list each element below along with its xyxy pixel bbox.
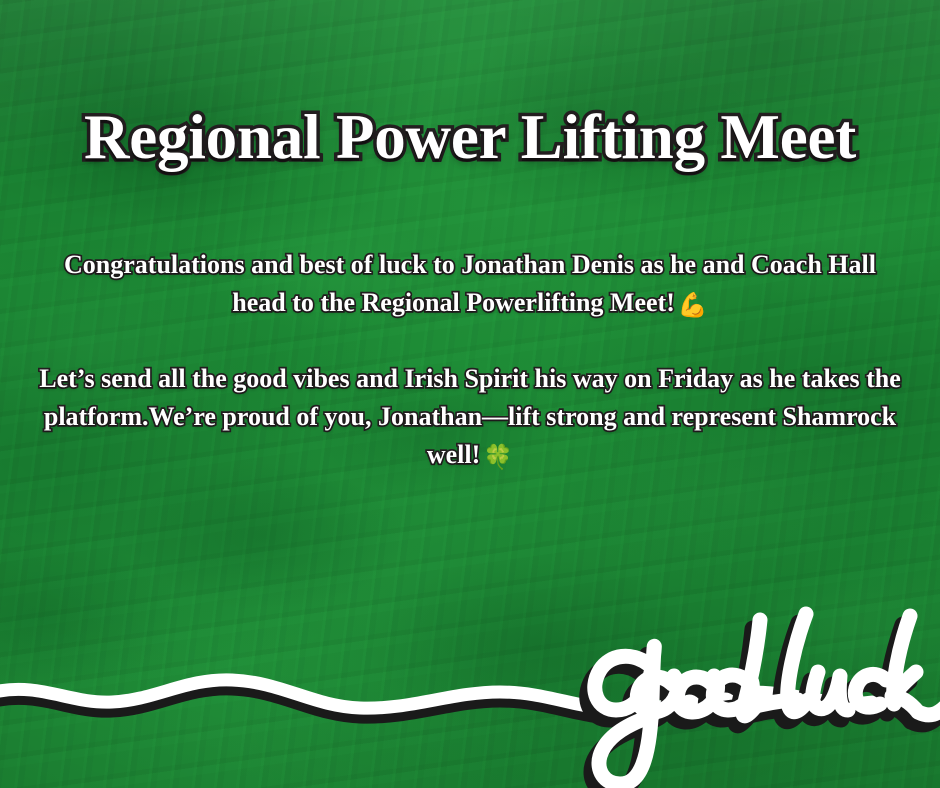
paragraph-1-text: Congratulations and best of luck to Jona… (64, 250, 876, 317)
four-leaf-clover-emoji: 🍀 (483, 445, 513, 471)
page-title: Regional Power Lifting Meet (0, 104, 940, 170)
message-paragraph-2: Let’s send all the good vibes and Irish … (0, 360, 940, 477)
paragraph-2-text: Let’s send all the good vibes and Irish … (39, 364, 900, 469)
flexed-biceps-emoji: 💪 (678, 293, 708, 319)
poster-canvas: Regional Power Lifting Meet Congratulati… (0, 0, 940, 788)
poster-content: Regional Power Lifting Meet Congratulati… (0, 0, 940, 788)
message-paragraph-1: Congratulations and best of luck to Jona… (0, 246, 940, 325)
